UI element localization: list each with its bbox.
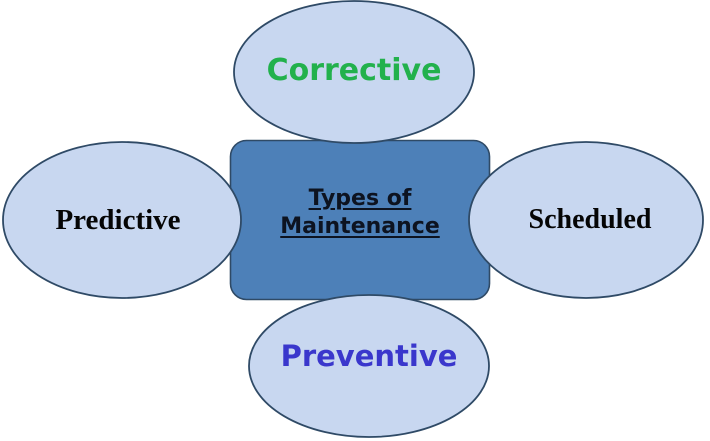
node-label-predictive: Predictive (3, 205, 233, 236)
node-label-corrective: Corrective (233, 55, 475, 87)
node-label-preventive: Preventive (248, 341, 490, 372)
hub-title: Types of Maintenance (230, 185, 490, 241)
hub-title-line-1: Types of (230, 185, 490, 213)
hub-title-line-2: Maintenance (230, 213, 490, 241)
node-label-scheduled: Scheduled (476, 205, 704, 235)
diagram-canvas: Types of Maintenance Corrective Schedule… (0, 0, 710, 441)
